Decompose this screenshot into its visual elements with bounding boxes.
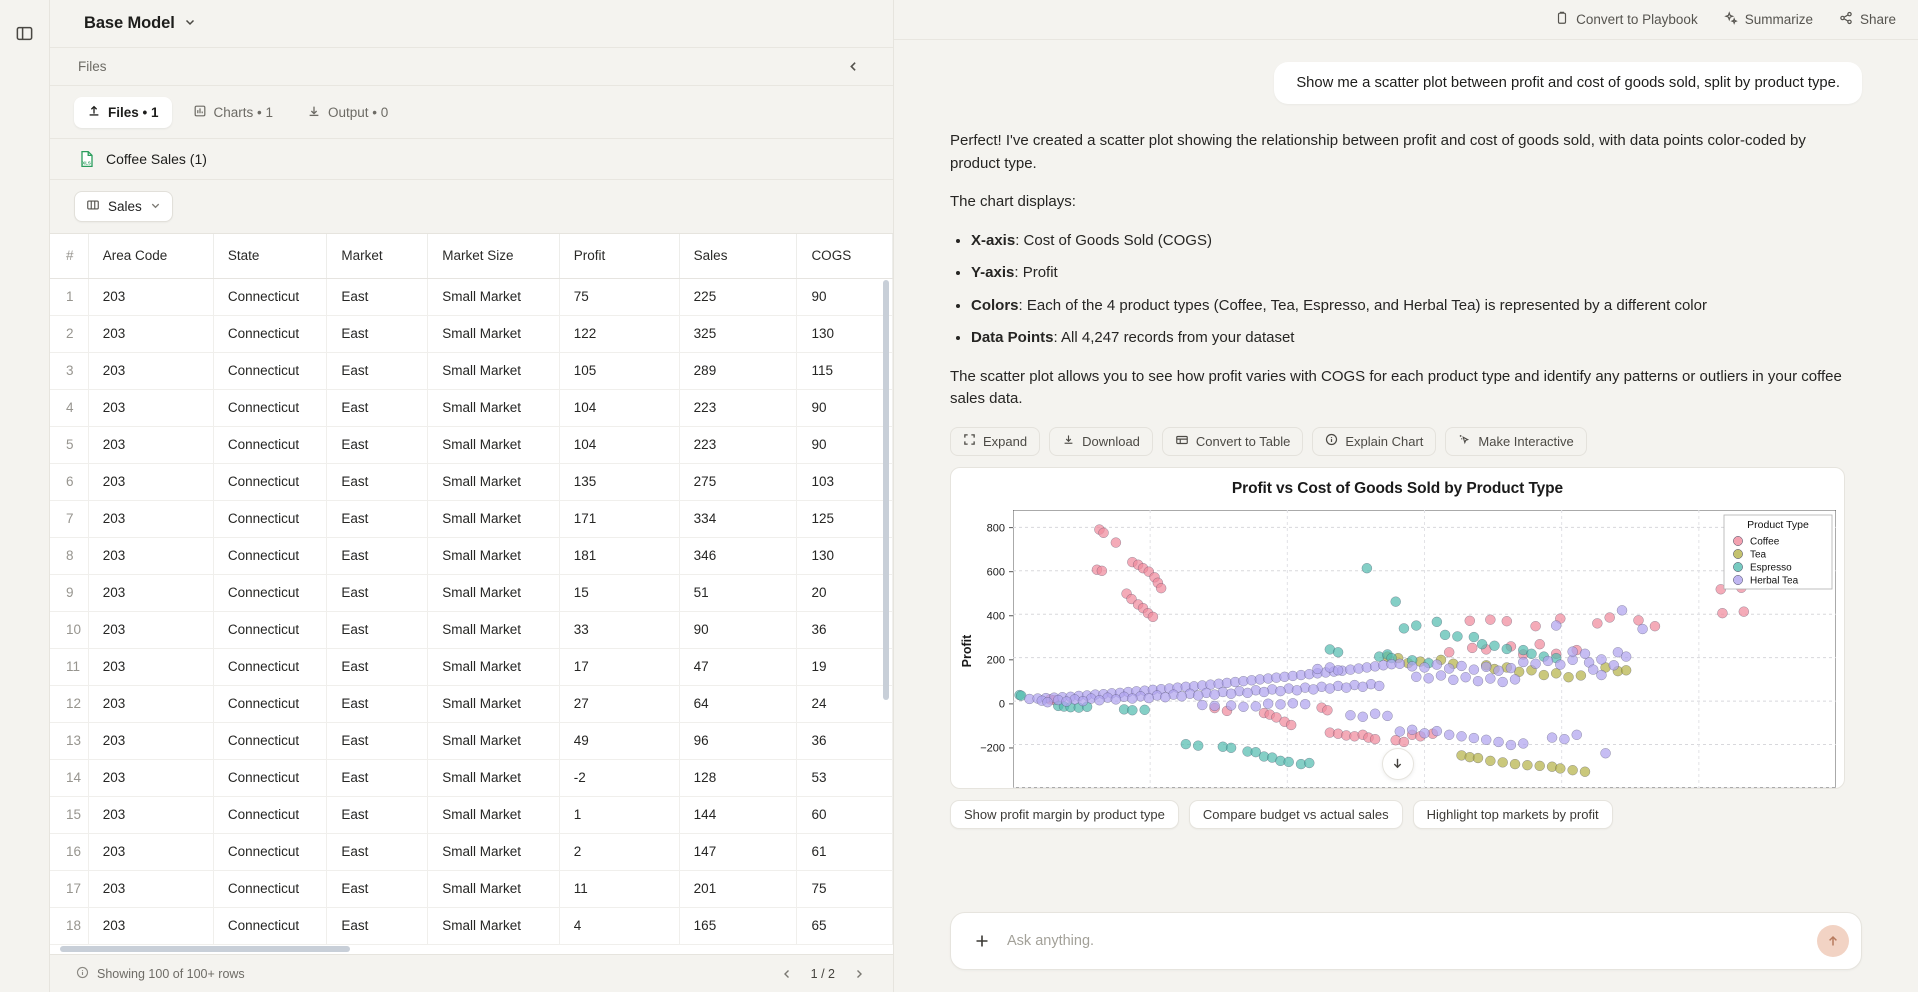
files-header: Files [50,48,893,86]
table-cell: 223 [679,389,797,426]
chat-toolbar: Convert to Playbook Summarize Share [894,0,1918,40]
chart-action-bar: Expand Download Convert to Table [950,427,1862,456]
table-cell: 115 [797,352,893,389]
expand-icon [963,433,976,449]
svg-text:XLS: XLS [82,161,91,166]
y-axis-tick-label: −400 [980,786,1005,788]
table-cell: East [327,907,428,944]
download-icon [307,104,321,121]
send-button[interactable] [1817,925,1849,957]
table-cell: 90 [797,426,893,463]
table-cell: 2 [559,833,679,870]
table-cell: 20 [797,574,893,611]
table-cell: 223 [679,426,797,463]
table-row[interactable]: 2203ConnecticutEastSmall Market122325130 [50,315,893,352]
file-name: Coffee Sales (1) [106,151,207,167]
table-cell: 33 [559,611,679,648]
table-cell: 203 [88,315,213,352]
suggestion-chip[interactable]: Highlight top markets by profit [1413,800,1613,829]
table-row[interactable]: 6203ConnecticutEastSmall Market135275103 [50,463,893,500]
download-label: Download [1082,434,1140,449]
table-cell: 51 [679,574,797,611]
table-cell: 90 [679,611,797,648]
table-cell: 53 [797,759,893,796]
table-cell: 10 [50,611,88,648]
model-bar: Base Model [50,0,893,48]
scroll-to-bottom-button[interactable] [1382,748,1414,780]
table-cell: 203 [88,685,213,722]
table-cell: East [327,537,428,574]
table-cell: 122 [559,315,679,352]
table-cell: Small Market [428,611,560,648]
share-icon [1839,11,1853,28]
column-header[interactable]: State [213,234,327,278]
table-cell: Connecticut [213,685,327,722]
table-cell: East [327,648,428,685]
table-pager: 1 / 2 [779,966,867,982]
table-cell: 203 [88,833,213,870]
table-cell: 90 [797,278,893,315]
table-cell: Small Market [428,833,560,870]
table-row[interactable]: 11203ConnecticutEastSmall Market174719 [50,648,893,685]
info-icon [76,966,89,982]
table-cell: 144 [679,796,797,833]
sparkle-icon [1724,11,1738,28]
table-cell: East [327,722,428,759]
table-icon [1175,433,1189,450]
table-footer: Showing 100 of 100+ rows 1 / 2 [50,954,893,992]
table-cell: 27 [559,685,679,722]
table-cell: East [327,685,428,722]
table-cell: 15 [50,796,88,833]
table-cell: 325 [679,315,797,352]
table-cell: East [327,426,428,463]
table-cell: East [327,611,428,648]
data-table: #Area CodeStateMarketMarket SizeProfitSa… [50,234,893,945]
files-section-label: Files [78,59,107,74]
file-tabs: Files • 1 Charts • 1 Output • 0 [50,86,893,138]
column-header[interactable]: Market Size [428,234,560,278]
table-cell: 7 [50,500,88,537]
table-cell: Small Market [428,574,560,611]
table-cell: 334 [679,500,797,537]
explain-chart-label: Explain Chart [1345,434,1423,449]
table-row[interactable]: 1203ConnecticutEastSmall Market7522590 [50,278,893,315]
table-cell: Connecticut [213,278,327,315]
table-cell: 17 [50,870,88,907]
table-cell: 147 [679,833,797,870]
chart-title: Profit vs Cost of Goods Sold by Product … [951,468,1844,498]
sidebar-toggle-icon[interactable] [12,20,38,46]
table-row[interactable]: 13203ConnecticutEastSmall Market499636 [50,722,893,759]
column-header[interactable]: COGS [797,234,893,278]
table-cell: East [327,759,428,796]
table-cell: East [327,574,428,611]
table-row[interactable]: 17203ConnecticutEastSmall Market1120175 [50,870,893,907]
sheet-bar: Sales [50,180,893,233]
table-cell: Connecticut [213,722,327,759]
tab-files[interactable]: Files • 1 [74,97,172,128]
table-cell: 4 [559,907,679,944]
table-cell: 181 [559,537,679,574]
column-header[interactable]: # [50,234,88,278]
table-cell: Connecticut [213,611,327,648]
table-cell: 64 [679,685,797,722]
y-axis-tick-label: 400 [987,610,1005,622]
table-cell: 49 [559,722,679,759]
table-cell: Small Market [428,463,560,500]
table-cell: 203 [88,278,213,315]
table-cell: 12 [50,685,88,722]
suggestion-chip[interactable]: Compare budget vs actual sales [1189,800,1403,829]
data-table-container[interactable]: #Area CodeStateMarketMarket SizeProfitSa… [50,233,893,954]
table-horizontal-scrollbar[interactable] [60,946,350,952]
bar-chart-icon [193,104,207,121]
table-cell: 75 [559,278,679,315]
table-row[interactable]: 7203ConnecticutEastSmall Market171334125 [50,500,893,537]
add-attachment-button[interactable] [969,928,995,954]
table-cell: Connecticut [213,574,327,611]
next-page-button[interactable] [851,966,867,982]
table-cell: 11 [559,870,679,907]
table-cell: 16 [50,833,88,870]
table-cell: 289 [679,352,797,389]
plot-area [1013,510,1836,788]
model-selector[interactable]: Base Model [78,10,202,37]
download-chart-button[interactable]: Download [1049,427,1153,456]
tab-charts-label: Charts • 1 [214,105,274,120]
scatter-chart-card[interactable]: Profit vs Cost of Goods Sold by Product … [950,467,1845,789]
table-cell: 203 [88,463,213,500]
table-cell: 19 [797,648,893,685]
table-row[interactable]: 12203ConnecticutEastSmall Market276424 [50,685,893,722]
column-header[interactable]: Profit [559,234,679,278]
chevron-down-icon [150,199,161,214]
table-cell: 203 [88,537,213,574]
table-row[interactable]: 14203ConnecticutEastSmall Market-212853 [50,759,893,796]
table-row[interactable]: 3203ConnecticutEastSmall Market105289115 [50,352,893,389]
table-cell: East [327,833,428,870]
table-cell: Small Market [428,278,560,315]
table-cell: 103 [797,463,893,500]
table-cell: 203 [88,796,213,833]
table-cell: 171 [559,500,679,537]
explain-chart-button[interactable]: Explain Chart [1312,427,1436,456]
table-cell: 203 [88,611,213,648]
table-cell: 1 [559,796,679,833]
assistant-message: Perfect! I've created a scatter plot sho… [950,130,1855,411]
table-cell: East [327,352,428,389]
table-cell: 4 [50,389,88,426]
table-cell: 9 [50,574,88,611]
table-cell: 8 [50,537,88,574]
table-cell: 203 [88,500,213,537]
table-cell: 36 [797,722,893,759]
table-cell: 201 [679,870,797,907]
columns-icon [86,198,100,215]
table-cell: East [327,870,428,907]
table-cell: East [327,315,428,352]
table-cell: Small Market [428,648,560,685]
cursor-sparkle-icon [1458,433,1471,449]
table-cell: 6 [50,463,88,500]
table-cell: 203 [88,574,213,611]
tab-files-label: Files • 1 [108,105,159,120]
table-row[interactable]: 5203ConnecticutEastSmall Market10422390 [50,426,893,463]
share-label: Share [1860,12,1896,27]
table-cell: Small Market [428,352,560,389]
table-cell: Connecticut [213,463,327,500]
expand-label: Expand [983,434,1027,449]
table-cell: 13 [50,722,88,759]
convert-to-playbook-label: Convert to Playbook [1576,12,1698,27]
table-cell: Connecticut [213,426,327,463]
table-cell: 24 [797,685,893,722]
summarize-button[interactable]: Summarize [1724,11,1813,28]
table-cell: Connecticut [213,315,327,352]
table-cell: 346 [679,537,797,574]
convert-to-table-label: Convert to Table [1196,434,1290,449]
table-cell: Connecticut [213,500,327,537]
table-cell: 18 [50,907,88,944]
summarize-label: Summarize [1745,12,1813,27]
y-axis-label: Profit [960,633,974,666]
table-cell: 47 [679,648,797,685]
page-indicator: 1 / 2 [811,967,835,981]
table-cell: 90 [797,389,893,426]
upload-icon [87,104,101,121]
column-header[interactable]: Market [327,234,428,278]
table-cell: 11 [50,648,88,685]
expand-button[interactable]: Expand [950,427,1040,456]
table-cell: East [327,500,428,537]
table-row[interactable]: 4203ConnecticutEastSmall Market10422390 [50,389,893,426]
table-cell: Small Market [428,537,560,574]
table-cell: East [327,389,428,426]
table-cell: Small Market [428,426,560,463]
table-cell: Small Market [428,500,560,537]
sheet-selector[interactable]: Sales [74,191,173,222]
assistant-bullets: X-axis: Cost of Goods Sold (COGS)Y-axis:… [950,230,1855,350]
prev-page-button[interactable] [779,966,795,982]
table-cell: Connecticut [213,759,327,796]
table-cell: 203 [88,870,213,907]
table-cell: 1 [50,278,88,315]
table-cell: East [327,463,428,500]
table-cell: 165 [679,907,797,944]
table-cell: 3 [50,352,88,389]
table-cell: 275 [679,463,797,500]
table-cell: 203 [88,722,213,759]
table-cell: 105 [559,352,679,389]
make-interactive-label: Make Interactive [1478,434,1573,449]
table-cell: 5 [50,426,88,463]
table-cell: 36 [797,611,893,648]
table-cell: 203 [88,426,213,463]
table-cell: Connecticut [213,352,327,389]
table-cell: Connecticut [213,537,327,574]
table-cell: Connecticut [213,389,327,426]
table-cell: Connecticut [213,648,327,685]
composer[interactable] [950,912,1862,970]
table-cell: 2 [50,315,88,352]
table-vertical-scrollbar[interactable] [883,280,889,700]
app-rail [0,0,50,992]
table-cell: 130 [797,315,893,352]
collapse-panel-button[interactable] [841,55,865,79]
table-row[interactable]: 10203ConnecticutEastSmall Market339036 [50,611,893,648]
convert-to-playbook-button[interactable]: Convert to Playbook [1555,11,1698,28]
table-cell: Small Market [428,796,560,833]
table-cell: 14 [50,759,88,796]
table-row[interactable]: 9203ConnecticutEastSmall Market155120 [50,574,893,611]
table-body: 1203ConnecticutEastSmall Market752259022… [50,278,893,944]
assistant-bullet: Y-axis: Profit [971,262,1855,285]
clipboard-icon [1555,11,1569,28]
chat-panel: Convert to Playbook Summarize Share Show… [894,0,1918,992]
table-cell: Small Market [428,759,560,796]
share-button[interactable]: Share [1839,11,1896,28]
suggestion-chips: Show profit margin by product typeCompar… [950,800,1862,829]
table-cell: 203 [88,648,213,685]
chevron-down-icon [184,15,196,33]
table-cell: 203 [88,907,213,944]
table-cell: Connecticut [213,796,327,833]
files-panel: Base Model Files Files • 1 [50,0,894,992]
download-icon [1062,433,1075,449]
table-cell: 203 [88,759,213,796]
table-cell: 61 [797,833,893,870]
convert-to-table-button[interactable]: Convert to Table [1162,427,1303,456]
y-axis-tick-label: 600 [987,566,1005,578]
y-axis-tick-label: 200 [987,654,1005,666]
table-cell: 225 [679,278,797,315]
table-cell: Connecticut [213,870,327,907]
sheet-label: Sales [108,199,142,214]
table-cell: 135 [559,463,679,500]
column-header[interactable]: Area Code [88,234,213,278]
table-cell: 125 [797,500,893,537]
assistant-lead: The chart displays: [950,191,1855,214]
table-cell: Small Market [428,685,560,722]
table-cell: East [327,278,428,315]
table-row[interactable]: 15203ConnecticutEastSmall Market114460 [50,796,893,833]
assistant-bullet: Colors: Each of the 4 product types (Cof… [971,295,1855,318]
assistant-intro: Perfect! I've created a scatter plot sho… [950,130,1855,175]
make-interactive-button[interactable]: Make Interactive [1445,427,1586,456]
suggestion-chip[interactable]: Show profit margin by product type [950,800,1179,829]
table-cell: 203 [88,389,213,426]
ask-input[interactable] [1007,933,1805,949]
table-cell: Small Market [428,870,560,907]
table-cell: 130 [797,537,893,574]
model-name: Base Model [84,14,175,33]
table-cell: 17 [559,648,679,685]
assistant-bullet: Data Points: All 4,247 records from your… [971,327,1855,350]
tab-charts[interactable]: Charts • 1 [180,97,287,128]
tab-output[interactable]: Output • 0 [294,97,401,128]
table-cell: 104 [559,426,679,463]
tab-output-label: Output • 0 [328,105,388,120]
table-cell: 75 [797,870,893,907]
table-row[interactable]: 16203ConnecticutEastSmall Market214761 [50,833,893,870]
table-cell: Small Market [428,315,560,352]
table-header-row: #Area CodeStateMarketMarket SizeProfitSa… [50,234,893,278]
table-cell: Connecticut [213,833,327,870]
table-cell: 65 [797,907,893,944]
table-cell: 203 [88,352,213,389]
table-cell: Small Market [428,907,560,944]
table-cell: 60 [797,796,893,833]
y-axis-tick-label: 800 [987,522,1005,534]
table-cell: -2 [559,759,679,796]
table-cell: 96 [679,722,797,759]
file-list-item[interactable]: XLS Coffee Sales (1) [50,138,893,180]
table-cell: Small Market [428,722,560,759]
table-cell: Small Market [428,389,560,426]
info-circle-icon [1325,433,1338,449]
row-count-status: Showing 100 of 100+ rows [97,967,245,981]
chat-thread[interactable]: Show me a scatter plot between profit an… [894,40,1918,898]
xls-file-icon: XLS [78,150,96,168]
assistant-outro: The scatter plot allows you to see how p… [950,366,1855,411]
user-message: Show me a scatter plot between profit an… [1274,62,1862,104]
table-cell: 128 [679,759,797,796]
table-cell: East [327,796,428,833]
composer-area [894,898,1918,992]
table-row[interactable]: 8203ConnecticutEastSmall Market181346130 [50,537,893,574]
assistant-bullet: X-axis: Cost of Goods Sold (COGS) [971,230,1855,253]
table-cell: 15 [559,574,679,611]
table-cell: 104 [559,389,679,426]
table-row[interactable]: 18203ConnecticutEastSmall Market416565 [50,907,893,944]
column-header[interactable]: Sales [679,234,797,278]
y-axis-tick-label: −200 [980,742,1005,754]
y-axis-tick-label: 0 [999,698,1005,710]
table-cell: Connecticut [213,907,327,944]
